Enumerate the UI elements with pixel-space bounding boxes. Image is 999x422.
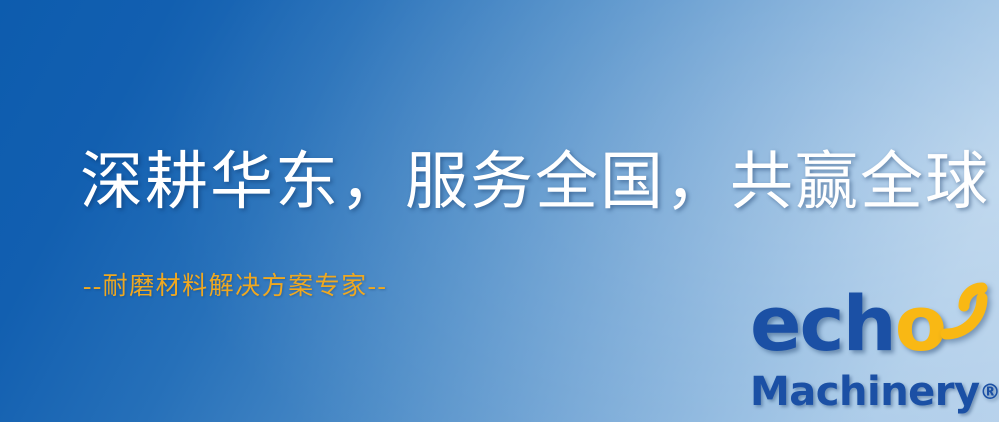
logo-subtext: Machinery® [750,372,999,412]
signal-arcs-icon [930,284,999,346]
logo-wordmark: echo [748,292,996,374]
banner-headline: 深耕华东，服务全国，共赢全球 [80,148,990,216]
banner-content: 深耕华东，服务全国，共赢全球 --耐磨材料解决方案专家-- echo Machi… [0,0,999,422]
promo-banner: 深耕华东，服务全国，共赢全球 --耐磨材料解决方案专家-- echo Machi… [0,0,999,422]
company-logo[interactable]: echo Machinery® [748,292,996,420]
logo-wordmark-text: echo [750,286,945,362]
logo-word-prefix: ech [750,279,895,368]
registered-trademark-icon: ® [980,380,999,404]
banner-subtitle: --耐磨材料解决方案专家-- [83,266,387,302]
logo-subtext-label: Machinery [750,369,980,415]
